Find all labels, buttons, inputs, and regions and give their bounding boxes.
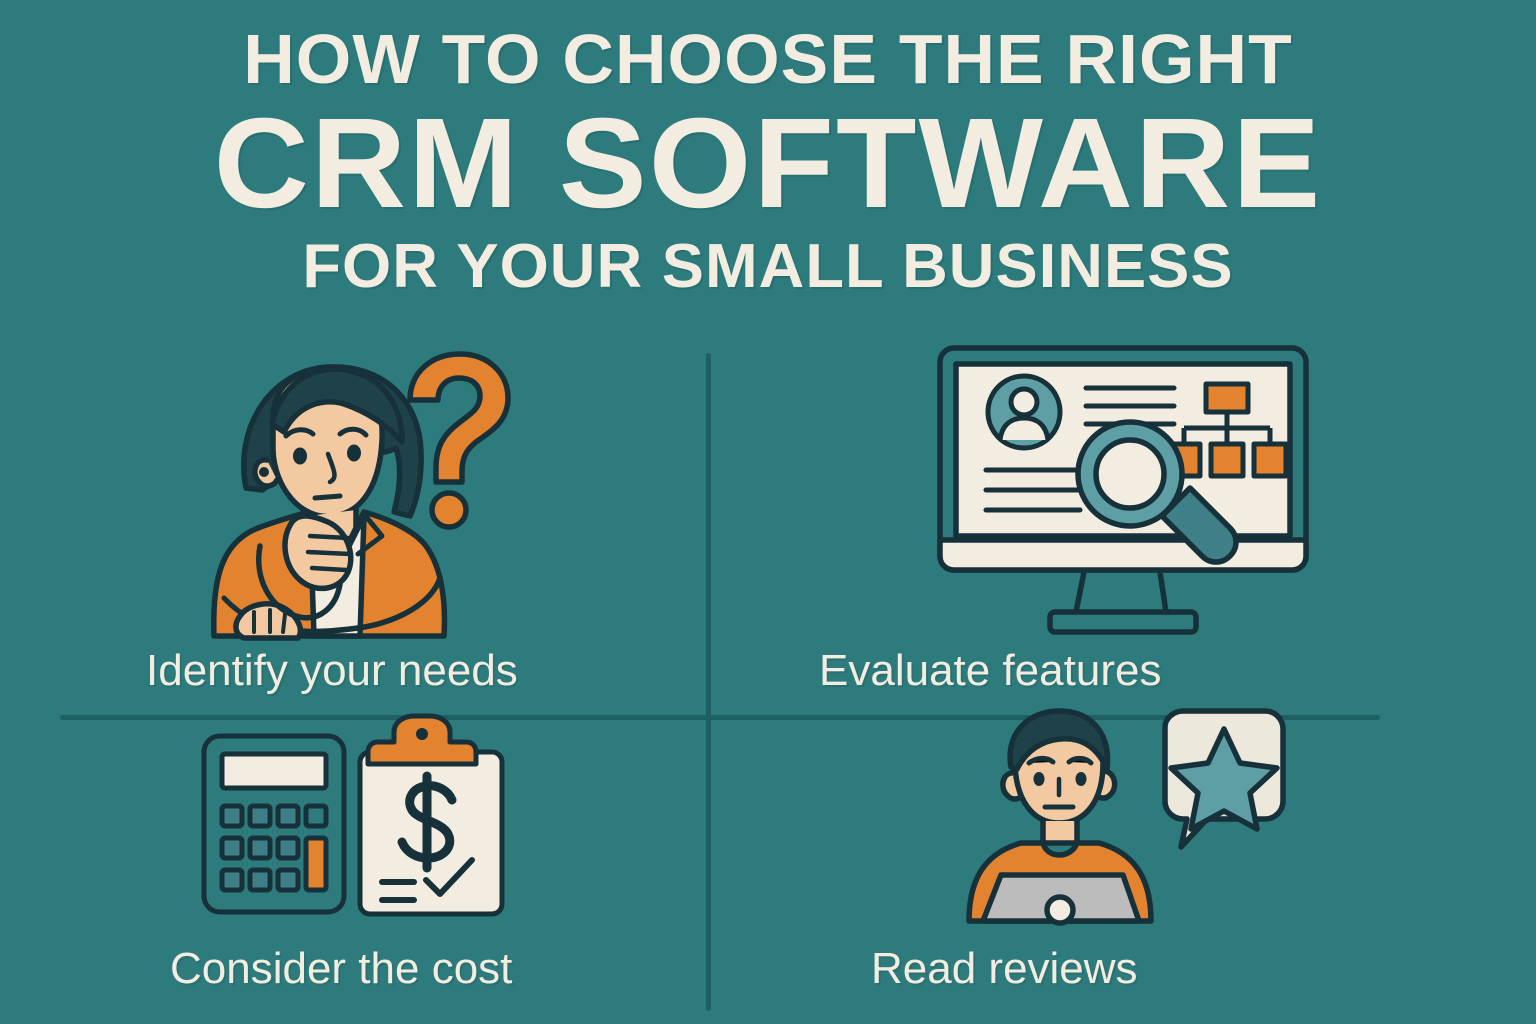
step-label-read-reviews: Read reviews bbox=[871, 944, 1536, 994]
calculator-icon bbox=[204, 736, 344, 912]
step-evaluate-features: Evaluate features bbox=[711, 340, 1536, 715]
read-reviews-illustration bbox=[711, 722, 1536, 922]
step-label-consider-the-cost: Consider the cost bbox=[170, 944, 706, 994]
question-mark-icon bbox=[410, 354, 508, 527]
title-line-3: FOR YOUR SMALL BUSINESS bbox=[0, 236, 1536, 298]
step-label-evaluate-features: Evaluate features bbox=[819, 646, 1536, 696]
title-line-2: CRM SOFTWARE bbox=[0, 100, 1536, 228]
user-avatar-icon bbox=[988, 376, 1060, 448]
thinking-woman-illustration bbox=[0, 340, 706, 640]
evaluate-features-illustration bbox=[711, 340, 1536, 640]
step-read-reviews: Read reviews bbox=[711, 722, 1536, 1024]
thinking-woman-icon bbox=[188, 340, 518, 640]
step-label-identify-your-needs: Identify your needs bbox=[146, 646, 706, 696]
person-with-laptop-icon bbox=[969, 711, 1151, 923]
infographic-poster: HOW TO CHOOSE THE RIGHT CRM SOFTWARE FOR… bbox=[0, 0, 1536, 1024]
desktop-monitor-icon bbox=[934, 340, 1314, 640]
consider-the-cost-illustration bbox=[0, 722, 706, 922]
title-line-1: HOW TO CHOOSE THE RIGHT bbox=[0, 24, 1536, 94]
poster-title: HOW TO CHOOSE THE RIGHT CRM SOFTWARE FOR… bbox=[0, 24, 1536, 298]
step-consider-the-cost: Consider the cost bbox=[0, 722, 706, 1024]
step-identify-your-needs: Identify your needs bbox=[0, 340, 706, 715]
